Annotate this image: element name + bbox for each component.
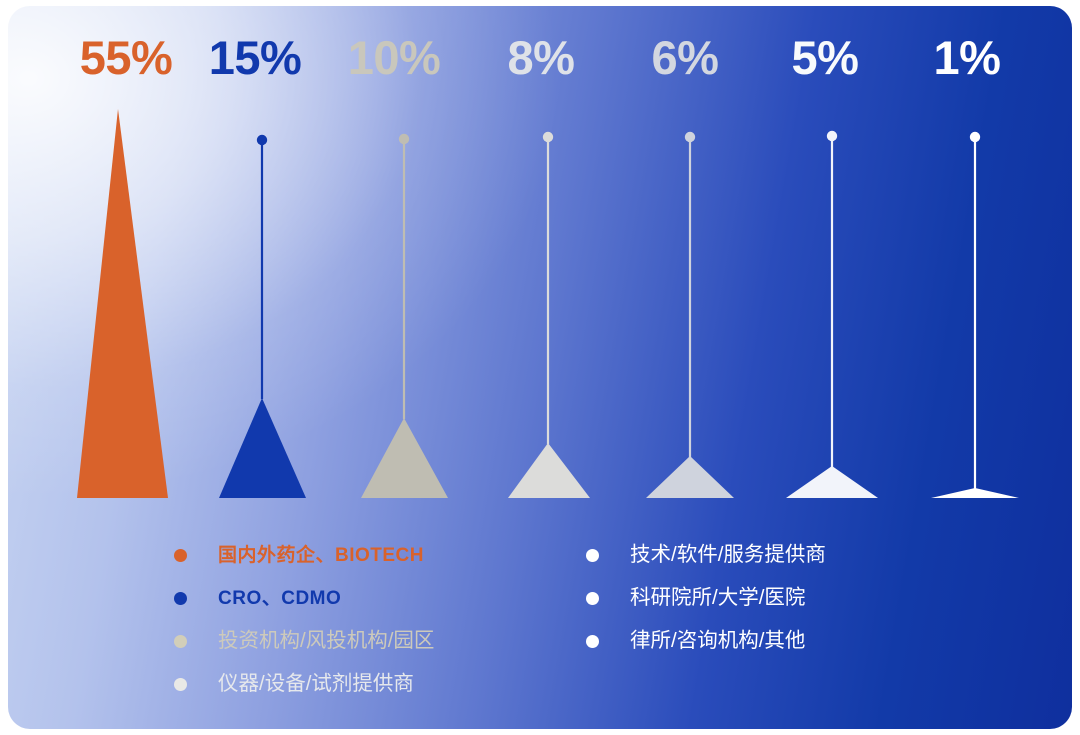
percent-label-5: 5% [792, 34, 859, 81]
spike-8-dot-marker [543, 132, 553, 142]
spike-10-triangle [361, 418, 448, 498]
legend-column-right: 技术/软件/服务提供商科研院所/大学/医院律所/咨询机构/其他 [586, 534, 826, 663]
legend-item[interactable]: 律所/咨询机构/其他 [586, 620, 826, 663]
spike-6-triangle [646, 456, 734, 498]
spike-1-triangle [931, 488, 1019, 498]
legend-bullet-icon [174, 549, 187, 562]
legend-item[interactable]: 科研院所/大学/医院 [586, 577, 826, 620]
legend-item-label: 律所/咨询机构/其他 [630, 631, 805, 652]
legend-item[interactable]: CRO、CDMO [174, 577, 434, 620]
percent-label-4: 6% [652, 34, 719, 81]
legend-item-label: 科研院所/大学/医院 [630, 588, 805, 609]
spike-8 [508, 132, 590, 498]
legend-item[interactable]: 国内外药企、BIOTECH [174, 534, 434, 577]
legend-item[interactable]: 仪器/设备/试剂提供商 [174, 663, 434, 706]
spike-5 [786, 131, 878, 498]
spike-55 [77, 109, 168, 498]
spike-8-triangle [508, 443, 590, 498]
legend-item-label: CRO、CDMO [218, 589, 341, 608]
spike-6 [646, 132, 734, 498]
chart-card: 55%15%10%8%6%5%1% 国内外药企、BIOTECHCRO、CDMO投… [8, 6, 1072, 729]
legend-item[interactable]: 技术/软件/服务提供商 [586, 534, 826, 577]
legend-bullet-icon [174, 592, 187, 605]
legend-item-label: 技术/软件/服务提供商 [630, 545, 826, 566]
spike-6-dot-marker [685, 132, 695, 142]
spike-1-dot-marker [970, 132, 980, 142]
legend-bullet-icon [174, 635, 187, 648]
legend-item-label: 投资机构/风投机构/园区 [218, 631, 434, 652]
legend-bullet-icon [586, 635, 599, 648]
percent-label-0: 55% [80, 34, 173, 81]
legend-bullet-icon [174, 678, 187, 691]
legend-item-label: 仪器/设备/试剂提供商 [218, 674, 414, 695]
legend-item[interactable]: 投资机构/风投机构/园区 [174, 620, 434, 663]
legend-bullet-icon [586, 549, 599, 562]
spike-10-dot-marker [399, 134, 409, 144]
chart-plot-area: 55%15%10%8%6%5%1% 国内外药企、BIOTECHCRO、CDMO投… [8, 6, 1072, 729]
percent-label-6: 1% [934, 34, 1001, 81]
percent-label-1: 15% [209, 34, 302, 81]
spike-10 [361, 134, 448, 498]
spike-1 [931, 132, 1019, 498]
legend-column-left: 国内外药企、BIOTECHCRO、CDMO投资机构/风投机构/园区仪器/设备/试… [174, 534, 434, 706]
spike-55-triangle [77, 109, 168, 498]
legend-item-label: 国内外药企、BIOTECH [218, 546, 424, 565]
spike-15 [219, 135, 306, 498]
percent-label-2: 10% [348, 34, 441, 81]
spike-15-dot-marker [257, 135, 267, 145]
spike-15-triangle [219, 398, 306, 498]
spike-5-triangle [786, 466, 878, 498]
spike-bars-layer [8, 6, 1072, 729]
spike-5-dot-marker [827, 131, 837, 141]
legend-bullet-icon [586, 592, 599, 605]
percent-label-3: 8% [508, 34, 575, 81]
